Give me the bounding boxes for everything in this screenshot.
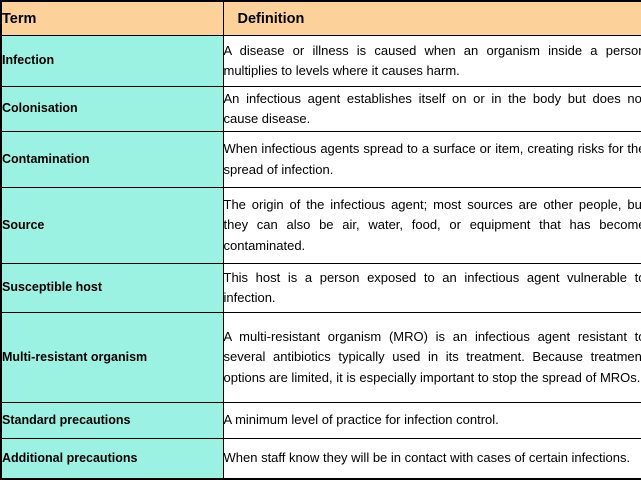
term-cell-contamination: Contamination [1,132,223,188]
table-header: Term Definition [1,1,641,36]
table-row: Susceptible host This host is a person e… [1,264,641,313]
table-header-row: Term Definition [1,1,641,36]
column-header-definition: Definition [223,1,641,36]
table-row: Additional precautions When staff know t… [1,439,641,480]
term-cell-multi-resistant-organism: Multi-resistant organism [1,313,223,403]
table-body: Infection A disease or illness is caused… [1,36,641,480]
glossary-table-page: Term Definition Infection A disease or i… [0,0,641,486]
term-cell-source: Source [1,188,223,264]
table-row: Contamination When infectious agents spr… [1,132,641,188]
definition-cell-contamination: When infectious agents spread to a surfa… [223,132,641,188]
definition-cell-additional-precautions: When staff know they will be in contact … [223,439,641,480]
definition-cell-multi-resistant-organism: A multi-resistant organism (MRO) is an i… [223,313,641,403]
table-row: Infection A disease or illness is caused… [1,36,641,87]
table-row: Standard precautions A minimum level of … [1,403,641,439]
definition-cell-standard-precautions: A minimum level of practice for infectio… [223,403,641,439]
definition-cell-susceptible-host: This host is a person exposed to an infe… [223,264,641,313]
term-cell-colonisation: Colonisation [1,87,223,132]
term-cell-standard-precautions: Standard precautions [1,403,223,439]
column-header-term: Term [1,1,223,36]
term-cell-infection: Infection [1,36,223,87]
table-row: Colonisation An infectious agent establi… [1,87,641,132]
definition-cell-source: The origin of the infectious agent; most… [223,188,641,264]
term-cell-additional-precautions: Additional precautions [1,439,223,480]
term-cell-susceptible-host: Susceptible host [1,264,223,313]
definition-cell-colonisation: An infectious agent establishes itself o… [223,87,641,132]
table-row: Multi-resistant organism A multi-resista… [1,313,641,403]
infection-control-glossary-table: Term Definition Infection A disease or i… [0,0,641,480]
definition-cell-infection: A disease or illness is caused when an o… [223,36,641,87]
table-row: Source The origin of the infectious agen… [1,188,641,264]
